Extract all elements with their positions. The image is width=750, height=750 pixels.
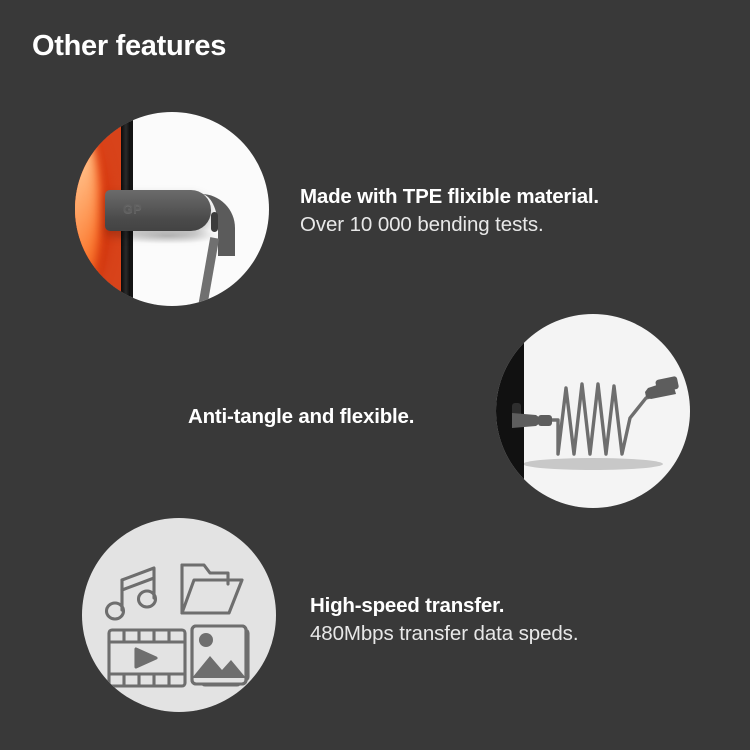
page-title: Other features (32, 31, 226, 63)
feature-text-tpe-material: Made with TPE flixible material. Over 10… (300, 184, 599, 237)
media-icons-svg (82, 518, 276, 712)
photos-icon (192, 626, 248, 685)
feature-title: High-speed transfer. (310, 593, 578, 619)
folder-icon (182, 565, 242, 613)
media-icons-graphic (82, 518, 276, 712)
zigzag-cable-drawing (496, 314, 690, 508)
feature-text-anti-tangle: Anti-tangle and flexible. (188, 404, 414, 430)
feature-subtitle: Over 10 000 bending tests. (300, 212, 599, 238)
feature-subtitle: 480Mbps transfer data speds. (310, 621, 578, 647)
usb-connector-photo: GP (75, 112, 269, 306)
zigzag-cable-photo (496, 314, 690, 508)
feature-text-high-speed: High-speed transfer. 480Mbps transfer da… (310, 593, 578, 646)
film-icon (109, 630, 185, 686)
feature-title: Made with TPE flixible material. (300, 184, 599, 210)
cable-soft-shadow (523, 458, 663, 470)
gp-brand-label: GP (123, 202, 153, 216)
feature-title: Anti-tangle and flexible. (188, 404, 414, 430)
other-features-panel: Other features GP Made with TPE flixible… (0, 0, 750, 750)
usb-connector-slot (211, 212, 218, 232)
music-note-icon (107, 568, 156, 619)
